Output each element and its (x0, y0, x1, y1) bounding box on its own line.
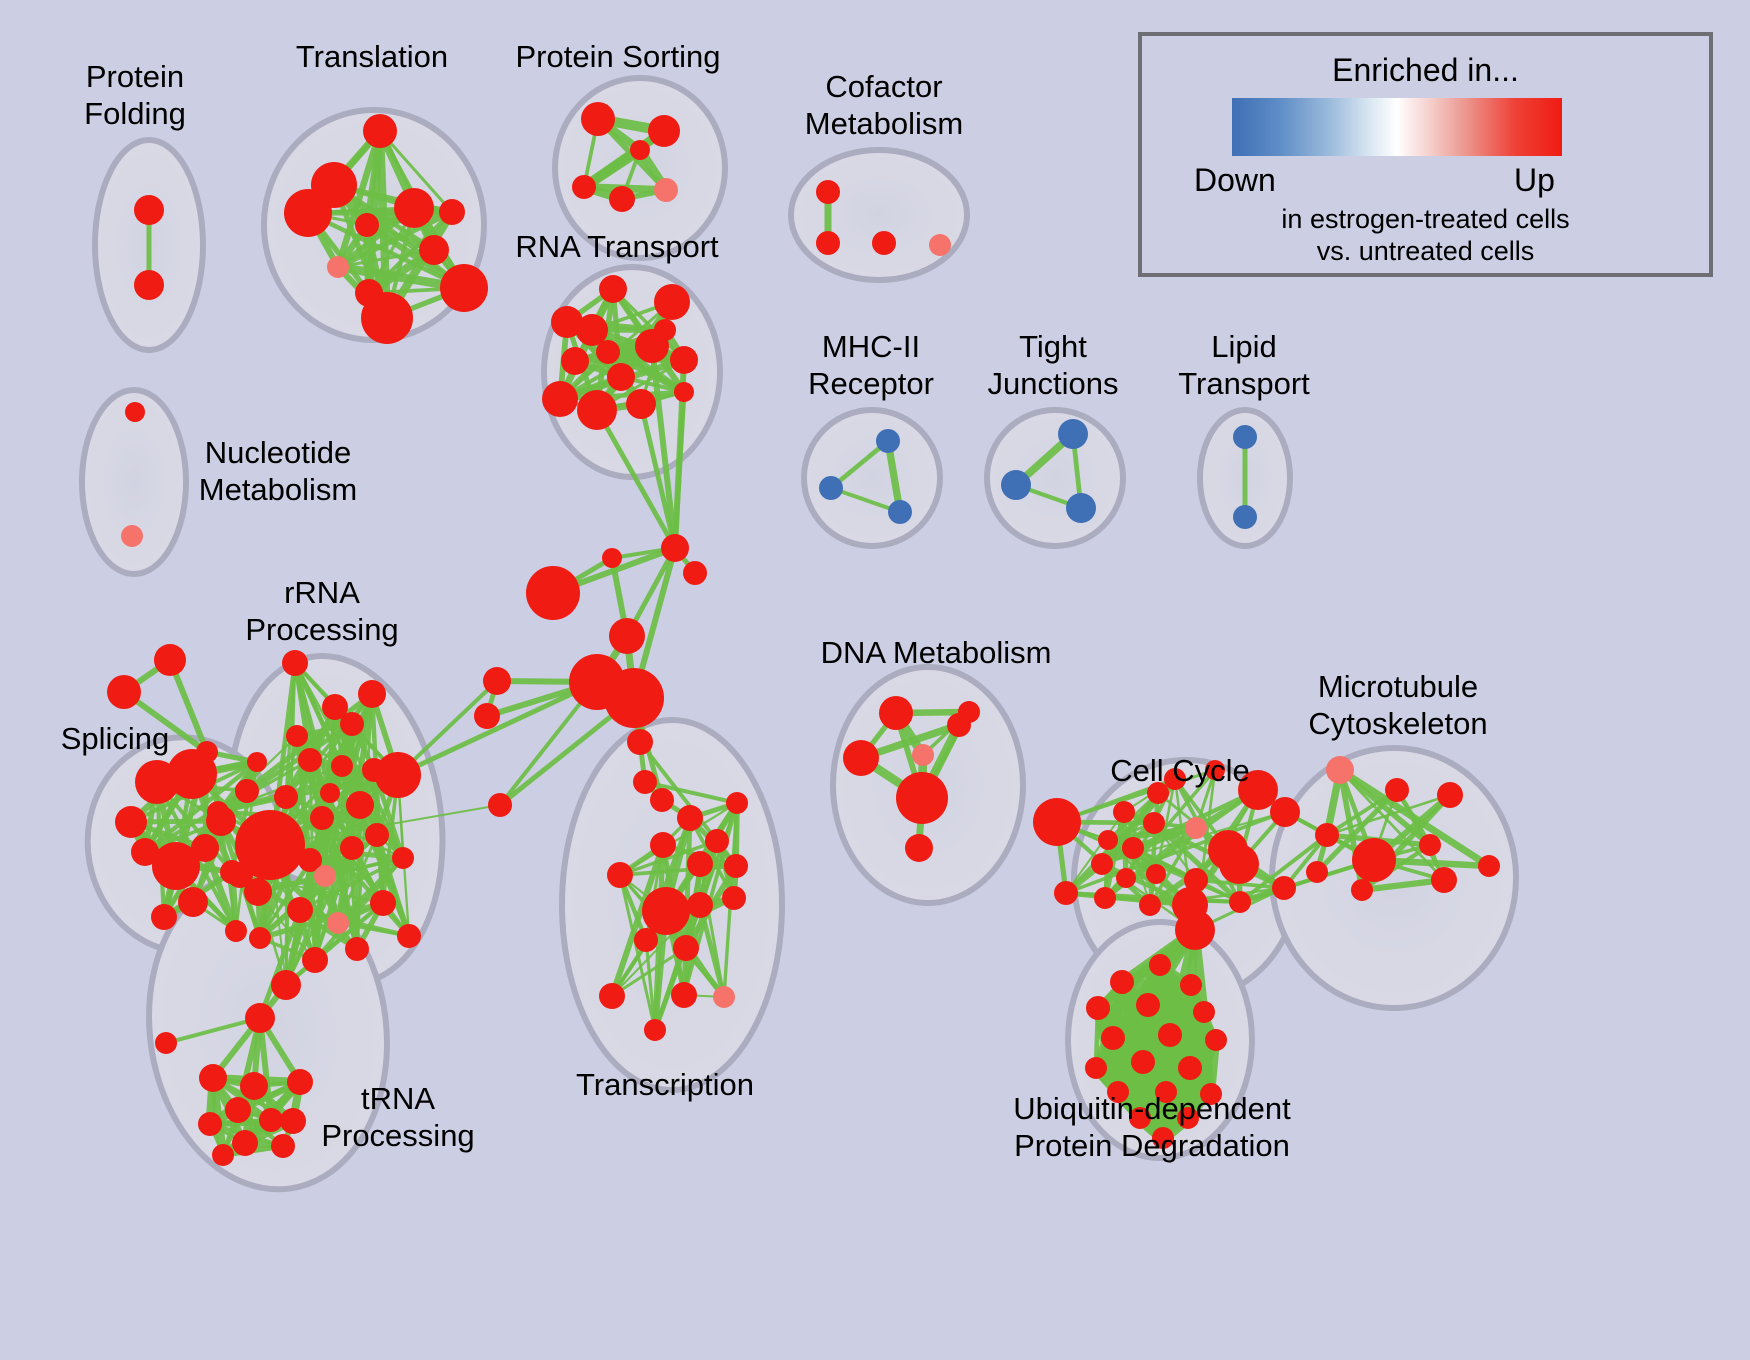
legend-title: Enriched in... (1142, 52, 1709, 89)
legend-subtitle-line2: vs. untreated cells (1142, 236, 1709, 267)
legend-subtitle-line1: in estrogen-treated cells (1142, 204, 1709, 235)
enrichment-map-figure: Protein FoldingTranslationProtein Sortin… (0, 0, 1750, 1360)
legend-down-label: Down (1194, 162, 1276, 199)
legend-box: Enriched in... Down Up in estrogen-treat… (1138, 32, 1713, 277)
legend-up-label: Up (1514, 162, 1555, 199)
legend-color-gradient (1232, 98, 1562, 156)
